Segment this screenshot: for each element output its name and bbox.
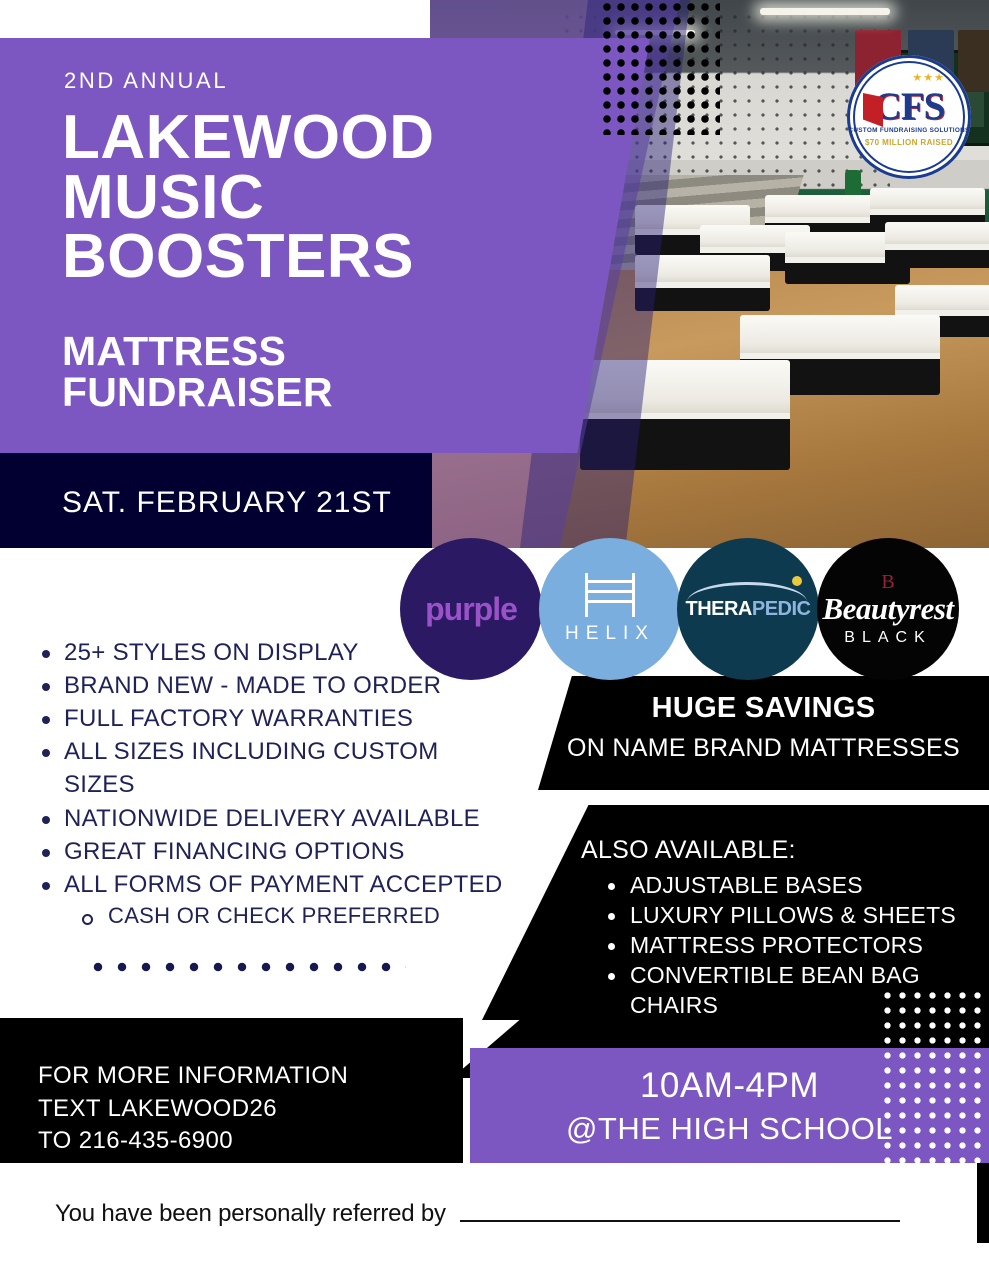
- list-item: LUXURY PILLOWS & SHEETS: [602, 901, 989, 931]
- list-item-sub: CASH OR CHECK PREFERRED: [34, 901, 514, 931]
- title-line-1: LAKEWOOD: [62, 108, 435, 168]
- list-item: ALL FORMS OF PAYMENT ACCEPTED: [34, 868, 514, 901]
- contact-line-1: FOR MORE INFORMATION: [38, 1060, 463, 1093]
- helix-wordmark: HELIX: [565, 623, 655, 645]
- list-item: FULL FACTORY WARRANTIES: [34, 702, 514, 735]
- beautyrest-crest-icon: B: [881, 572, 894, 592]
- cfs-stars-icon: ★★★: [912, 71, 945, 84]
- cfs-logo-raised: $70 MILLION RAISED: [865, 138, 953, 147]
- also-available-heading: ALSO AVAILABLE:: [581, 836, 796, 865]
- brand-logos-row: purple HELIX THERAPEDIC B Beautyrest BLA…: [400, 538, 989, 680]
- savings-headline: HUGE SAVINGS: [538, 676, 989, 725]
- cfs-logo-name: CFS: [874, 87, 945, 126]
- contact-line-3: TO 216-435-6900: [38, 1125, 463, 1158]
- list-item: GREAT FINANCING OPTIONS: [34, 835, 514, 868]
- brand-logo-helix: HELIX: [539, 538, 681, 680]
- brand-logo-purple: purple: [400, 538, 542, 680]
- brand-logo-therapedic: THERAPEDIC: [677, 538, 819, 680]
- event-date: SAT. FEBRUARY 21ST: [62, 486, 392, 520]
- cfs-logo: ★★★ CFS CUSTOM FUNDRAISING SOLUTIONS $70…: [847, 55, 971, 179]
- list-item: ADJUSTABLE BASES: [602, 871, 989, 901]
- contact-line-2: TEXT LAKEWOOD26: [38, 1093, 463, 1126]
- referral-blank-field[interactable]: [460, 1202, 900, 1222]
- right-edge-accent: [977, 1163, 989, 1243]
- beautyrest-black-label: BLACK: [844, 629, 931, 647]
- white-halftone-dots: [880, 988, 989, 1178]
- flyer-poster: ★★★ CFS CUSTOM FUNDRAISING SOLUTIONS $70…: [0, 0, 989, 1280]
- black-halftone-dots: [600, 0, 720, 135]
- contact-panel: FOR MORE INFORMATION TEXT LAKEWOOD26 TO …: [0, 1018, 463, 1163]
- features-list: 25+ STYLES ON DISPLAY BRAND NEW - MADE T…: [34, 636, 514, 931]
- savings-subline: ON NAME BRAND MATTRESSES: [538, 734, 989, 763]
- title-line-3: BOOSTERS: [62, 227, 435, 287]
- therapedic-dot-icon: [792, 576, 802, 586]
- page-title: LAKEWOOD MUSIC BOOSTERS: [62, 108, 435, 287]
- referral-text: You have been personally referred by: [55, 1200, 446, 1228]
- referral-line: You have been personally referred by: [0, 1200, 989, 1228]
- brand-logo-beautyrest: B Beautyrest BLACK: [817, 538, 959, 680]
- list-item: ALL SIZES INCLUDING CUSTOM SIZES: [34, 735, 514, 801]
- helix-mark-icon: [581, 573, 639, 617]
- list-item: NATIONWIDE DELIVERY AVAILABLE: [34, 802, 514, 835]
- header-text-block: 2ND ANNUAL LAKEWOOD MUSIC BOOSTERS MATTR…: [62, 68, 435, 413]
- cfs-logo-tagline: CUSTOM FUNDRAISING SOLUTIONS: [848, 127, 969, 134]
- subtitle-line-2: FUNDRAISER: [62, 372, 435, 413]
- huge-savings-panel: HUGE SAVINGS ON NAME BRAND MATTRESSES: [538, 676, 989, 790]
- cfs-flag-icon: [863, 93, 883, 127]
- kicker-label: 2ND ANNUAL: [64, 68, 435, 94]
- list-item: MATTRESS PROTECTORS: [602, 931, 989, 961]
- title-line-2: MUSIC: [62, 168, 435, 228]
- purple-wordmark: purple: [425, 591, 517, 628]
- therapedic-swoosh-icon: [687, 582, 807, 602]
- subtitle-line-1: MATTRESS: [62, 331, 435, 372]
- beautyrest-wordmark: Beautyrest: [822, 593, 953, 624]
- navy-dot-grid-decoration: [86, 956, 406, 982]
- page-subtitle: MATTRESS FUNDRAISER: [62, 331, 435, 413]
